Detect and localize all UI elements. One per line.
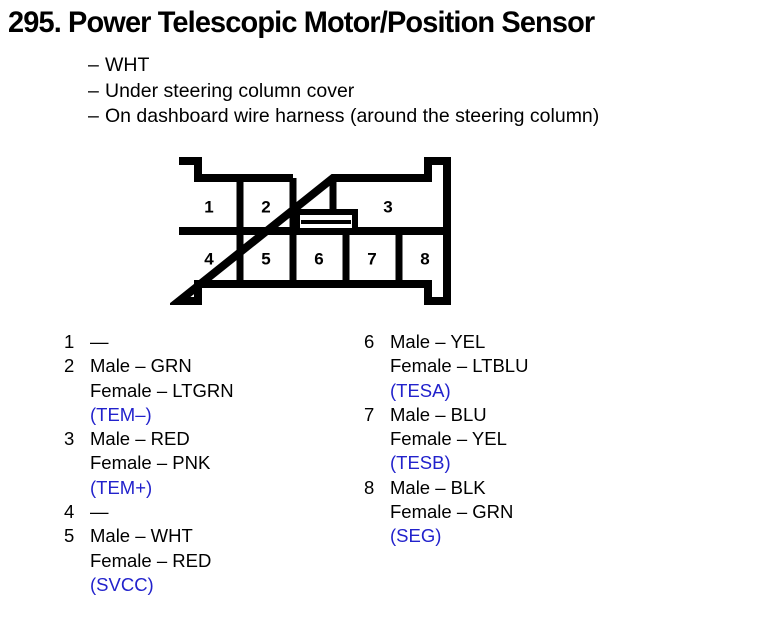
note-item-label: WHT: [105, 54, 149, 76]
pin-entry-male: Male – GRN: [90, 354, 234, 378]
pin-entry-female: Female – YEL: [390, 427, 528, 451]
pin-list-right: 6 Male – YEL Female – LTBLU (TESA) 7 Mal…: [364, 330, 528, 549]
pin-entry-empty: —: [90, 330, 234, 354]
note-item: –WHT: [88, 53, 599, 79]
pin-entry: 7 Male – BLU Female – YEL (TESB): [364, 403, 528, 476]
pin-entry-female: Female – LTBLU: [390, 354, 528, 378]
pin-number-3: 3: [383, 198, 392, 217]
note-item-label: On dashboard wire harness (around the st…: [105, 105, 599, 127]
pin-entry-female: Female – RED: [90, 549, 234, 573]
note-dash-icon: –: [88, 104, 105, 130]
connector-svg: 1 2 3 4 5 6 7 8: [170, 152, 456, 310]
pin-entry-code: (SEG): [390, 524, 528, 548]
pin-entry-index: 8: [364, 476, 374, 500]
pin-number-2: 2: [261, 198, 270, 217]
pin-entry: 5 Male – WHT Female – RED (SVCC): [64, 524, 234, 597]
pin-entry-index: 2: [64, 354, 74, 378]
pin-number-1: 1: [204, 198, 213, 217]
pin-entry-female: Female – PNK: [90, 451, 234, 475]
pin-number-5: 5: [261, 250, 270, 269]
pin-list-left: 1 — 2 Male – GRN Female – LTGRN (TEM–) 3…: [64, 330, 234, 597]
pin-entry-index: 3: [64, 427, 74, 451]
note-dash-icon: –: [88, 79, 105, 105]
note-item: –Under steering column cover: [88, 79, 599, 105]
note-item: –On dashboard wire harness (around the s…: [88, 104, 599, 130]
pin-entry-empty: —: [90, 500, 234, 524]
pin-entry: 1 —: [64, 330, 234, 354]
pin-entry-male: Male – YEL: [390, 330, 528, 354]
pin-entry-female: Female – LTGRN: [90, 379, 234, 403]
note-item-label: Under steering column cover: [105, 80, 354, 102]
pin-number-8: 8: [420, 250, 429, 269]
pin-entry-index: 4: [64, 500, 74, 524]
pin-entry-code: (TESB): [390, 451, 528, 475]
pin-number-4: 4: [204, 250, 214, 269]
pin-entry-index: 1: [64, 330, 74, 354]
pin-entry: 3 Male – RED Female – PNK (TEM+): [64, 427, 234, 500]
pin-entry: 4 —: [64, 500, 234, 524]
notes-list: –WHT –Under steering column cover –On da…: [88, 53, 599, 130]
pin-entry-index: 6: [364, 330, 374, 354]
pin-number-7: 7: [367, 250, 376, 269]
pin-number-6: 6: [314, 250, 323, 269]
page-title: 295. Power Telescopic Motor/Position Sen…: [8, 7, 594, 39]
pin-entry-code: (SVCC): [90, 573, 234, 597]
connector-diagram: 1 2 3 4 5 6 7 8: [170, 152, 456, 310]
pin-entry-index: 7: [364, 403, 374, 427]
note-dash-icon: –: [88, 53, 105, 79]
pin-entry-code: (TEM–): [90, 403, 234, 427]
pin-entry: 8 Male – BLK Female – GRN (SEG): [364, 476, 528, 549]
pin-entry-male: Male – RED: [90, 427, 234, 451]
pin-entry-male: Male – BLU: [390, 403, 528, 427]
pin-entry-female: Female – GRN: [390, 500, 528, 524]
pin-entry-male: Male – BLK: [390, 476, 528, 500]
pin-entry-code: (TESA): [390, 379, 528, 403]
pin-entry: 2 Male – GRN Female – LTGRN (TEM–): [64, 354, 234, 427]
pin-entry-code: (TEM+): [90, 476, 234, 500]
pin-entry-male: Male – WHT: [90, 524, 234, 548]
pin-entry: 6 Male – YEL Female – LTBLU (TESA): [364, 330, 528, 403]
pin-entry-index: 5: [64, 524, 74, 548]
